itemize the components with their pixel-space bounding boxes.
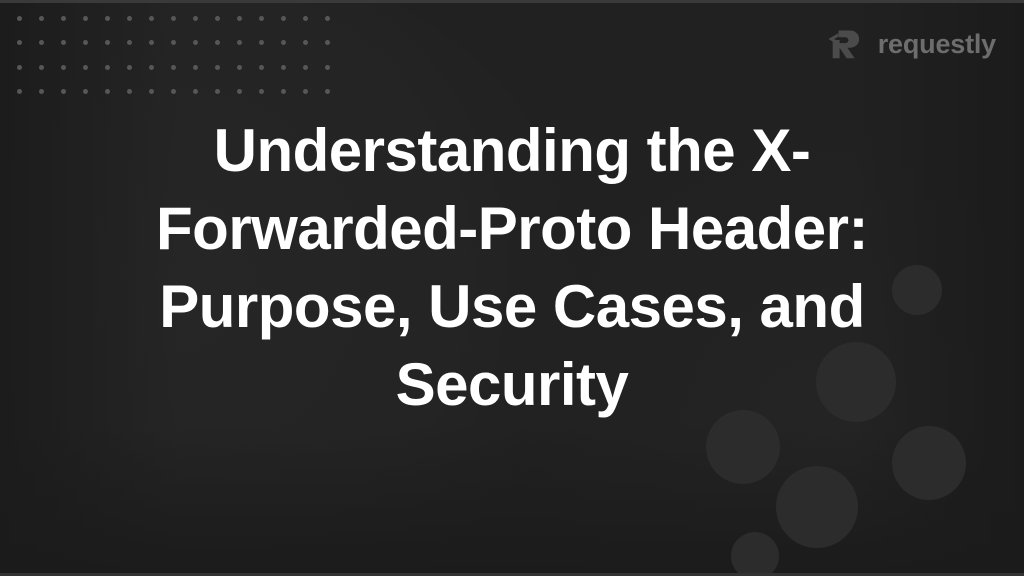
grid-dot bbox=[149, 40, 154, 45]
grid-dot bbox=[17, 65, 22, 70]
grid-dot bbox=[17, 16, 22, 21]
grid-dot bbox=[303, 65, 308, 70]
grid-dot bbox=[127, 89, 132, 94]
grid-dot bbox=[215, 89, 220, 94]
top-border-line bbox=[0, 0, 1024, 3]
grid-dot bbox=[237, 16, 242, 21]
grid-dot bbox=[39, 65, 44, 70]
grid-dot bbox=[39, 16, 44, 21]
grid-dot bbox=[127, 16, 132, 21]
grid-dot bbox=[127, 40, 132, 45]
decorative-circle bbox=[776, 466, 858, 548]
grid-dot bbox=[105, 40, 110, 45]
grid-dot bbox=[105, 89, 110, 94]
grid-dot bbox=[237, 89, 242, 94]
decorative-circle bbox=[731, 532, 779, 576]
grid-dot bbox=[237, 65, 242, 70]
grid-dot bbox=[259, 89, 264, 94]
grid-dot bbox=[171, 40, 176, 45]
grid-dot bbox=[281, 16, 286, 21]
grid-dot bbox=[303, 16, 308, 21]
grid-dot bbox=[149, 65, 154, 70]
grid-dot bbox=[193, 16, 198, 21]
grid-dot bbox=[325, 65, 330, 70]
grid-dot bbox=[61, 40, 66, 45]
grid-dot bbox=[303, 40, 308, 45]
grid-dot bbox=[281, 40, 286, 45]
grid-dot bbox=[105, 16, 110, 21]
grid-dot bbox=[61, 89, 66, 94]
grid-dot bbox=[325, 16, 330, 21]
decorative-circle bbox=[892, 426, 966, 500]
grid-dot bbox=[215, 40, 220, 45]
grid-dot bbox=[39, 89, 44, 94]
grid-dot bbox=[215, 65, 220, 70]
grid-dot bbox=[61, 65, 66, 70]
page-title: Understanding the X-Forwarded-Proto Head… bbox=[142, 112, 882, 424]
grid-dot bbox=[61, 16, 66, 21]
grid-dot bbox=[259, 40, 264, 45]
presentation-slide: requestly Understanding the X-Forwarded-… bbox=[0, 0, 1024, 576]
grid-dot bbox=[193, 65, 198, 70]
grid-dot bbox=[171, 89, 176, 94]
grid-dot bbox=[149, 89, 154, 94]
grid-dot bbox=[171, 65, 176, 70]
grid-dot bbox=[193, 89, 198, 94]
grid-dot bbox=[215, 16, 220, 21]
grid-dot bbox=[105, 65, 110, 70]
background-edge-shade-bottom bbox=[0, 426, 1024, 576]
grid-dot bbox=[17, 89, 22, 94]
grid-dot bbox=[83, 16, 88, 21]
grid-dot bbox=[303, 89, 308, 94]
grid-dot bbox=[83, 40, 88, 45]
decorative-dot-grid bbox=[8, 6, 328, 106]
grid-dot bbox=[83, 89, 88, 94]
grid-dot bbox=[281, 65, 286, 70]
grid-dot bbox=[83, 65, 88, 70]
grid-dot bbox=[17, 40, 22, 45]
grid-dot bbox=[39, 40, 44, 45]
grid-dot bbox=[259, 16, 264, 21]
grid-dot bbox=[237, 40, 242, 45]
brand-logo: requestly bbox=[825, 24, 996, 64]
grid-dot bbox=[149, 16, 154, 21]
brand-wordmark: requestly bbox=[878, 31, 996, 58]
grid-dot bbox=[193, 40, 198, 45]
title-block: Understanding the X-Forwarded-Proto Head… bbox=[0, 112, 1024, 424]
grid-dot bbox=[325, 40, 330, 45]
grid-dot bbox=[127, 65, 132, 70]
grid-dot bbox=[325, 89, 330, 94]
grid-dot bbox=[259, 65, 264, 70]
requestly-r-arrow-icon bbox=[825, 24, 865, 64]
grid-dot bbox=[281, 89, 286, 94]
grid-dot bbox=[171, 16, 176, 21]
